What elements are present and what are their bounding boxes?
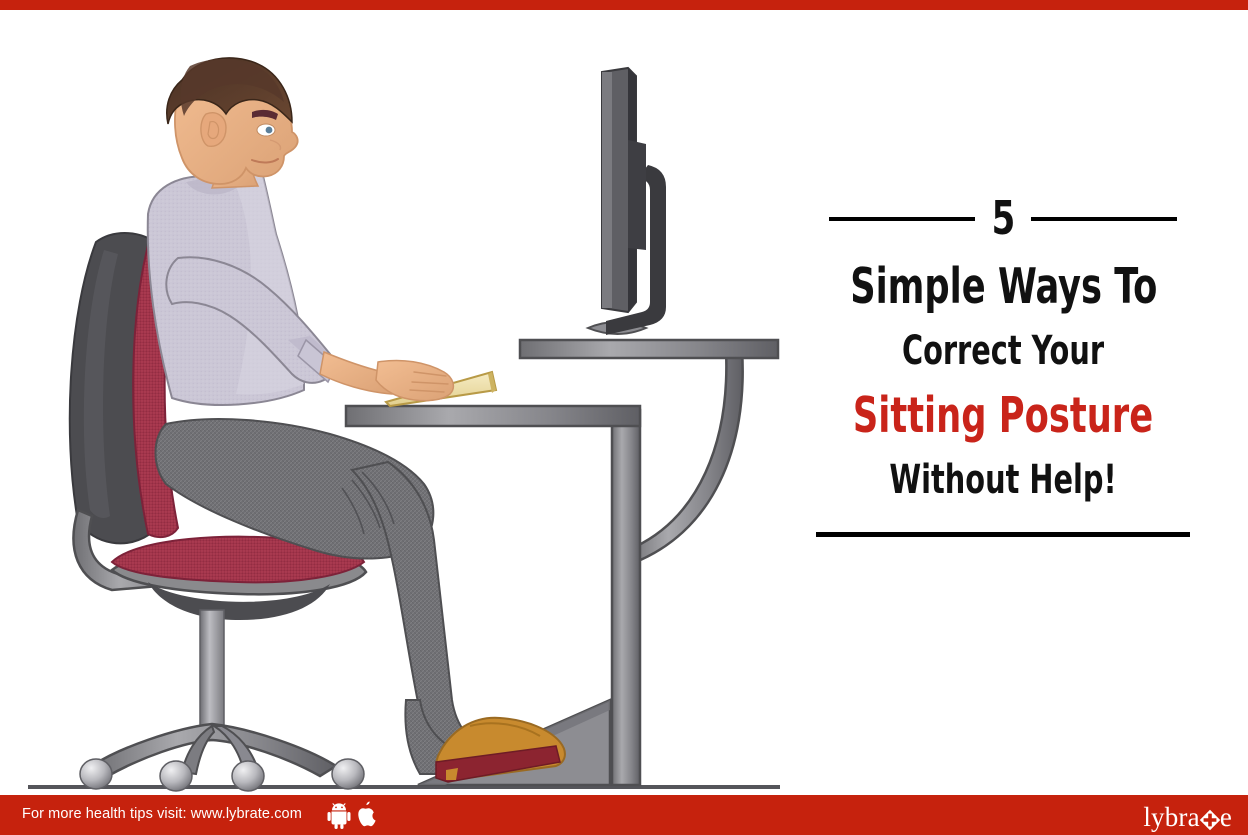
headline-count: 5	[980, 199, 1027, 238]
logo-text-before: lybra	[1143, 802, 1199, 833]
count-rule-row: 5	[812, 198, 1194, 240]
poster-canvas: 5 Simple Ways To Correct Your Sitting Po…	[0, 0, 1248, 835]
top-accent-bar	[0, 0, 1248, 10]
lybrate-logo[interactable]: lybra e	[1143, 802, 1232, 833]
divider-rule-bottom	[816, 532, 1190, 537]
headline-line-1: Simple Ways To	[850, 262, 1156, 311]
headline-line-3-highlight: Sitting Posture	[850, 391, 1156, 440]
footer-text: For more health tips visit: www.lybrate.…	[22, 806, 302, 822]
ear	[201, 113, 226, 147]
headline-block: 5 Simple Ways To Correct Your Sitting Po…	[812, 198, 1194, 598]
chair-caster	[232, 761, 264, 791]
chair-caster	[332, 759, 364, 789]
desk-top-surface	[520, 340, 778, 358]
medical-cross-diamond-icon	[1199, 807, 1221, 829]
desk-keyboard-tray	[346, 406, 640, 426]
chair-caster	[160, 761, 192, 791]
android-icon[interactable]	[327, 803, 351, 829]
desk-curved-brace	[628, 350, 743, 565]
headline-line-4: Without Help!	[850, 460, 1156, 500]
logo-text-after: e	[1220, 802, 1232, 833]
floor-line	[28, 785, 780, 789]
divider-rule-left	[829, 217, 975, 221]
desk-leg	[612, 410, 640, 785]
hand-on-keyboard	[376, 360, 453, 400]
illustration-man-sitting-at-desk	[0, 10, 800, 795]
headline-line-2: Correct Your	[850, 331, 1156, 371]
divider-rule-right	[1031, 217, 1177, 221]
chair-caster	[80, 759, 112, 789]
apple-icon[interactable]	[357, 801, 379, 829]
chair-pedestal	[200, 610, 224, 738]
